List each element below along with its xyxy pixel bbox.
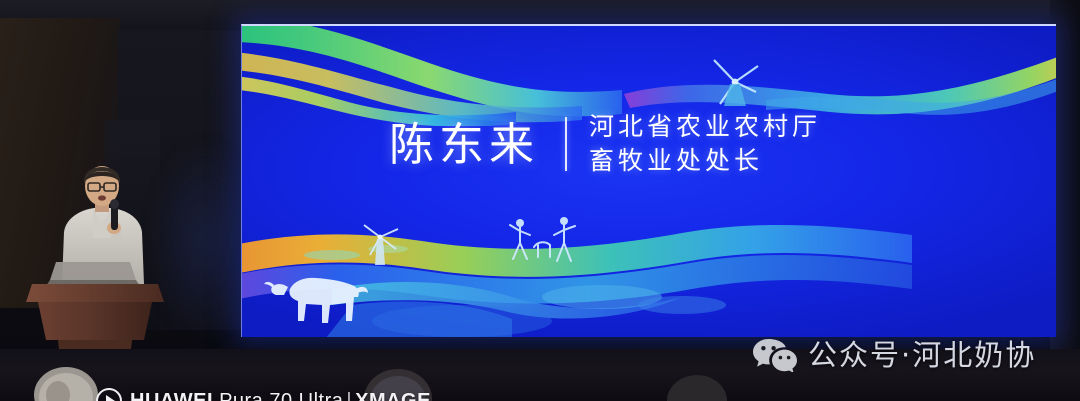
audience-head-3 bbox=[660, 367, 734, 401]
camera-watermark: HUAWEI Pura 70 Ultra|XMAGE bbox=[96, 388, 431, 401]
watermark-text: 公众号·河北奶协 bbox=[808, 341, 1036, 370]
windmill-turbine-icon bbox=[690, 52, 780, 114]
camera-model: Pura 70 Ultra bbox=[219, 390, 343, 401]
speaker-name: 陈东来 bbox=[389, 122, 539, 167]
camera-separator: | bbox=[343, 390, 355, 401]
huawei-logo-icon bbox=[96, 388, 122, 401]
camera-watermark-text: HUAWEI Pura 70 Ultra|XMAGE bbox=[130, 391, 431, 401]
photo-stage: 陈东来 河北省农业农村厅 畜牧业处处长 bbox=[0, 0, 1080, 401]
cow-silhouette-icon bbox=[260, 263, 370, 329]
wechat-icon bbox=[752, 338, 798, 372]
screen-title-block: 陈东来 河北省农业农村厅 畜牧业处处长 bbox=[389, 112, 821, 176]
speaker-role-1: 河北省农业农村厅 bbox=[589, 112, 821, 143]
people-silhouettes-icon bbox=[500, 213, 610, 265]
title-divider bbox=[565, 117, 567, 171]
led-presentation-screen: 陈东来 河北省农业农村厅 畜牧业处处长 bbox=[241, 24, 1056, 337]
camera-brand: HUAWEI bbox=[130, 390, 213, 401]
speaker-roles: 河北省农业农村厅 畜牧业处处长 bbox=[589, 112, 821, 176]
speaker-role-2: 畜牧业处处长 bbox=[589, 146, 821, 177]
camera-imaging: XMAGE bbox=[355, 390, 431, 401]
wechat-watermark: 公众号·河北奶协 bbox=[752, 338, 1036, 372]
